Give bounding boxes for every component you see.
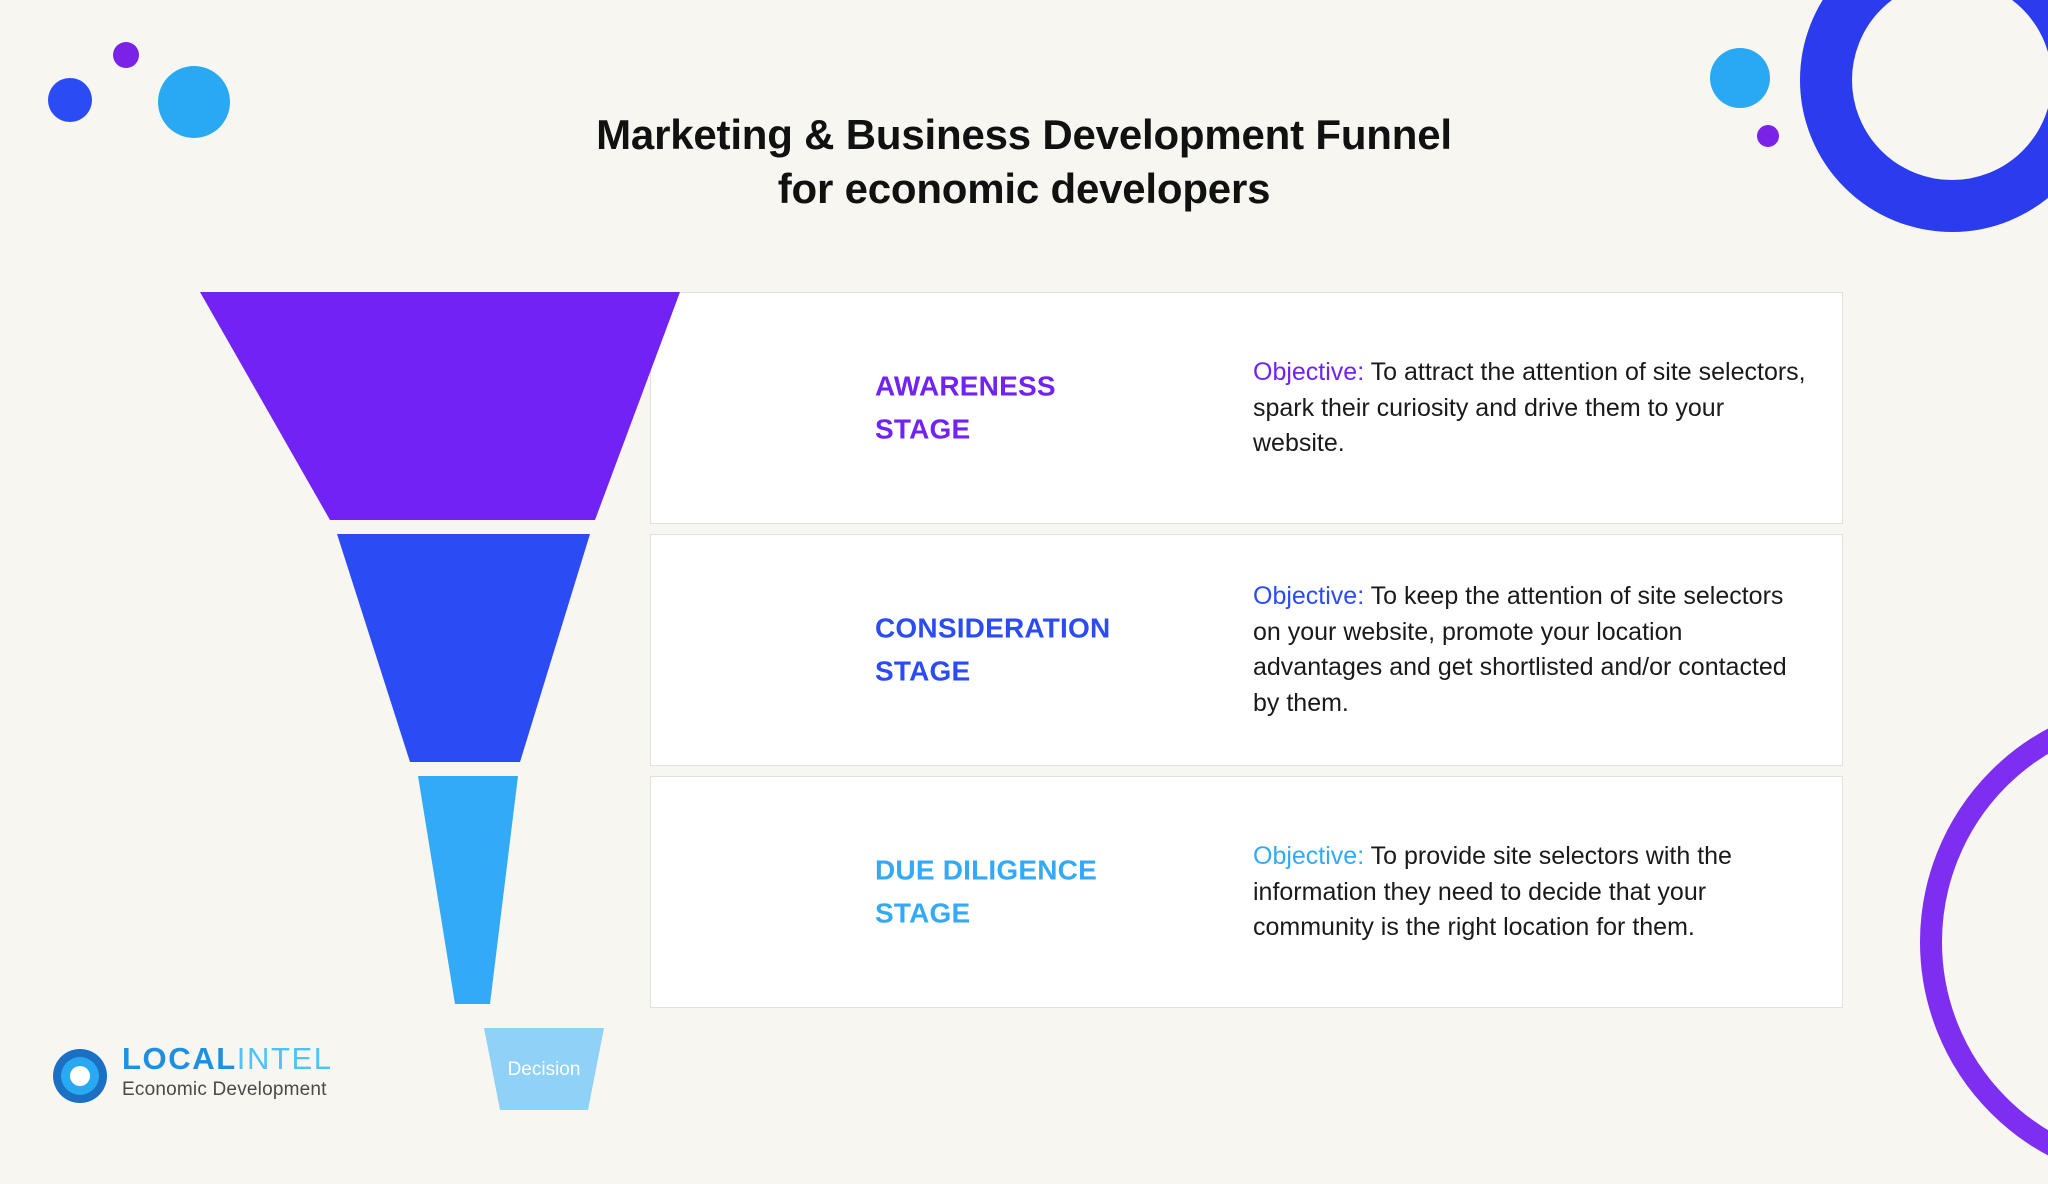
stage-label-awareness-line-2: STAGE bbox=[875, 408, 1205, 451]
funnel-segment-decision: Decision bbox=[484, 1028, 604, 1112]
funnel-segment-consideration bbox=[0, 534, 700, 766]
logo-ring-icon bbox=[52, 1048, 108, 1104]
stage-label-due-diligence: DUE DILIGENCE STAGE bbox=[875, 849, 1205, 936]
logo-text: LOCALINTEL Economic Development bbox=[122, 1042, 333, 1101]
circle-lightblue-top-right-icon bbox=[1710, 48, 1770, 108]
funnel-row-due-diligence: DUE DILIGENCE STAGE Objective: To provid… bbox=[0, 776, 2048, 1008]
funnel-segment-awareness bbox=[0, 292, 700, 524]
logo-word-local: LOCAL bbox=[122, 1041, 237, 1076]
funnel-segment-due-diligence bbox=[0, 776, 700, 1008]
stage-label-consideration-line-2: STAGE bbox=[875, 650, 1205, 693]
stage-label-due-diligence-line-1: DUE DILIGENCE bbox=[875, 855, 1097, 886]
stage-label-consideration-line-1: CONSIDERATION bbox=[875, 613, 1110, 644]
logo-subtitle: Economic Development bbox=[122, 1079, 333, 1101]
brand-logo: LOCALINTEL Economic Development bbox=[52, 1042, 342, 1114]
stage-objective-awareness: Objective: To attract the attention of s… bbox=[1253, 355, 1813, 462]
page-title-line-2: for economic developers bbox=[0, 162, 2048, 216]
stage-objective-consideration: Objective: To keep the attention of site… bbox=[1253, 579, 1813, 721]
stage-label-awareness: AWARENESS STAGE bbox=[875, 365, 1205, 452]
stage-label-due-diligence-line-2: STAGE bbox=[875, 892, 1205, 935]
objective-key-awareness: Objective: bbox=[1253, 358, 1364, 386]
stage-label-awareness-line-1: AWARENESS bbox=[875, 371, 1056, 402]
page-title: Marketing & Business Development Funnel … bbox=[0, 108, 2048, 216]
stage-objective-due-diligence: Objective: To provide site selectors wit… bbox=[1253, 839, 1813, 946]
stage-label-consideration: CONSIDERATION STAGE bbox=[875, 607, 1205, 694]
funnel-row-consideration: CONSIDERATION STAGE Objective: To keep t… bbox=[0, 534, 2048, 766]
objective-key-consideration: Objective: bbox=[1253, 582, 1364, 610]
slide-canvas: Marketing & Business Development Funnel … bbox=[0, 0, 2048, 1152]
objective-key-due-diligence: Objective: bbox=[1253, 842, 1364, 870]
logo-word-intel: INTEL bbox=[237, 1041, 333, 1076]
decision-label: Decision bbox=[484, 1028, 604, 1112]
page-title-line-1: Marketing & Business Development Funnel bbox=[0, 108, 2048, 162]
funnel-row-awareness: AWARENESS STAGE Objective: To attract th… bbox=[0, 292, 2048, 524]
dot-purple-top-left-icon bbox=[113, 42, 139, 68]
logo-wordmark: LOCALINTEL bbox=[122, 1042, 333, 1076]
